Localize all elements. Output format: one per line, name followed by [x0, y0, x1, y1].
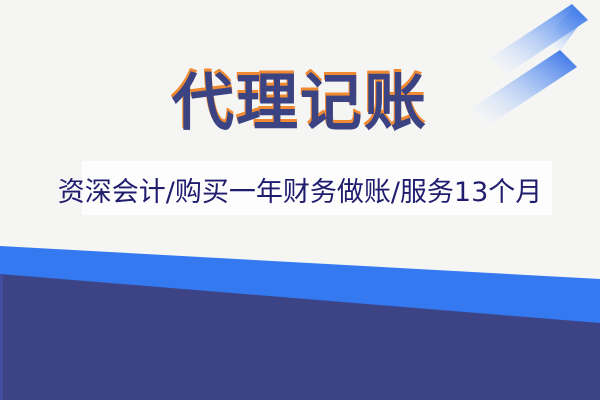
- page-title: 代理记账: [172, 72, 428, 134]
- subtitle-container: 资深会计/购买一年财务做账/服务13个月: [0, 174, 600, 210]
- bottom-bands: [0, 210, 600, 400]
- page-subtitle: 资深会计/购买一年财务做账/服务13个月: [58, 179, 543, 206]
- diagonal-stripe-upper-icon: [548, 8, 585, 52]
- title-container: 代理记账: [0, 57, 600, 149]
- promo-banner: 代理记账 资深会计/购买一年财务做账/服务13个月: [0, 0, 600, 400]
- navy-left-edge-highlight: [0, 274, 3, 400]
